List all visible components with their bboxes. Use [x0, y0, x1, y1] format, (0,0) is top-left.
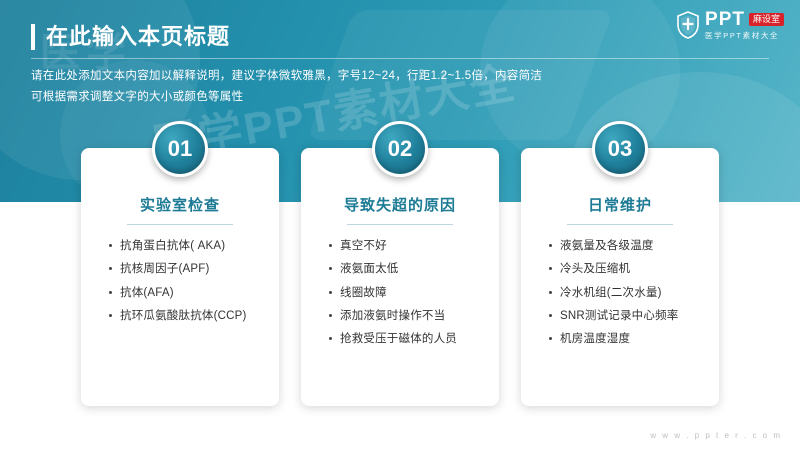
list-item: 机房温度湿度 [549, 331, 707, 347]
card-2-divider [347, 224, 453, 225]
card-3-title: 日常维护 [533, 194, 707, 215]
list-item: 抢救受压于磁体的人员 [329, 331, 487, 347]
list-item: 抗体(AFA) [109, 285, 267, 301]
title-divider [31, 58, 769, 59]
subtitle-line-2: 可根据需求调整文字的大小或颜色等属性 [31, 87, 731, 108]
list-item: 冷水机组(二次水量) [549, 285, 707, 301]
card-1-divider [127, 224, 233, 225]
page-title: 在此输入本页标题 [46, 26, 230, 48]
page-title-row: 在此输入本页标题 [31, 24, 230, 50]
logo-main-row: PPT 麻设室 [705, 10, 784, 29]
list-item: 真空不好 [329, 238, 487, 254]
logo-brand-text: PPT [705, 10, 745, 29]
card-2-number-badge: 02 [372, 121, 428, 177]
list-item: 液氨量及各级温度 [549, 238, 707, 254]
shield-icon [676, 11, 700, 39]
card-3-number-badge: 03 [592, 121, 648, 177]
title-accent-bar [31, 24, 35, 50]
cards-row: 01 实验室检查 抗角蛋白抗体( AKA) 抗核周因子(APF) 抗体(AFA)… [0, 148, 800, 406]
card-3-divider [567, 224, 673, 225]
logo-badge: 麻设室 [749, 13, 784, 26]
brand-logo[interactable]: PPT 麻设室 医学PPT素材大全 [676, 10, 784, 40]
card-1-bullet-list: 抗角蛋白抗体( AKA) 抗核周因子(APF) 抗体(AFA) 抗环瓜氨酸肽抗体… [93, 238, 267, 324]
card-2-bullet-list: 真空不好 液氨面太低 线圈故障 添加液氨时操作不当 抢救受压于磁体的人员 [313, 238, 487, 348]
logo-tagline: 医学PPT素材大全 [705, 32, 784, 40]
list-item: 抗核周因子(APF) [109, 261, 267, 277]
slide: 医学 医学PPT素材大全 在此输入本页标题 请在此处添加文本内容加以解释说明，建… [0, 0, 800, 450]
footer-website: w w w . p p t e r . c o m [650, 431, 782, 440]
list-item: 线圈故障 [329, 285, 487, 301]
card-2-title: 导致失超的原因 [313, 194, 487, 215]
card-2[interactable]: 02 导致失超的原因 真空不好 液氨面太低 线圈故障 添加液氨时操作不当 抢救受… [301, 148, 499, 406]
list-item: 添加液氨时操作不当 [329, 308, 487, 324]
logo-text-group: PPT 麻设室 医学PPT素材大全 [705, 10, 784, 40]
card-1-number-badge: 01 [152, 121, 208, 177]
card-3-bullet-list: 液氨量及各级温度 冷头及压缩机 冷水机组(二次水量) SNR测试记录中心频率 机… [533, 238, 707, 348]
list-item: SNR测试记录中心频率 [549, 308, 707, 324]
card-1-title: 实验室检查 [93, 194, 267, 215]
card-1[interactable]: 01 实验室检查 抗角蛋白抗体( AKA) 抗核周因子(APF) 抗体(AFA)… [81, 148, 279, 406]
list-item: 抗角蛋白抗体( AKA) [109, 238, 267, 254]
list-item: 冷头及压缩机 [549, 261, 707, 277]
list-item: 抗环瓜氨酸肽抗体(CCP) [109, 308, 267, 324]
card-3[interactable]: 03 日常维护 液氨量及各级温度 冷头及压缩机 冷水机组(二次水量) SNR测试… [521, 148, 719, 406]
list-item: 液氨面太低 [329, 261, 487, 277]
subtitle-line-1: 请在此处添加文本内容加以解释说明，建议字体微软雅黑，字号12~24，行距1.2~… [31, 66, 731, 87]
subtitle-block: 请在此处添加文本内容加以解释说明，建议字体微软雅黑，字号12~24，行距1.2~… [31, 66, 731, 109]
